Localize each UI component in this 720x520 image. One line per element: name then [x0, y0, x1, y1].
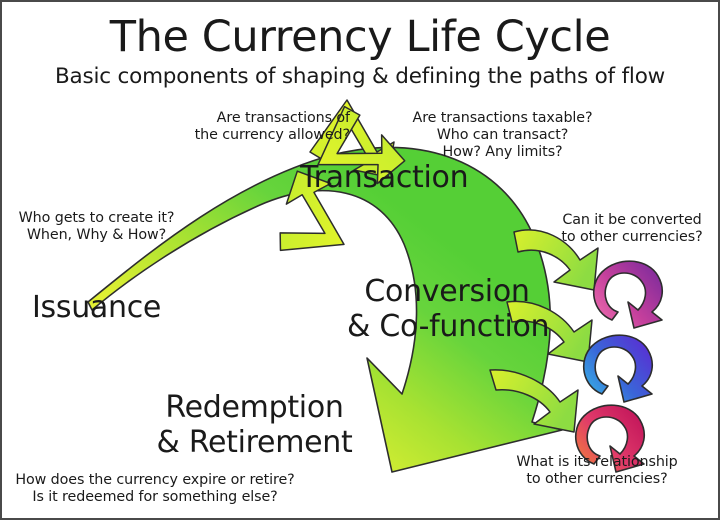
stage-label-redemption: Redemption & Retirement [147, 390, 362, 461]
annotation-relationship: What is its relationship to other curren… [497, 454, 697, 488]
currency-spiral-purple [594, 261, 663, 328]
annotation-transaction-taxable: Are transactions taxable? Who can transa… [410, 110, 595, 161]
diagram-canvas: The Currency Life Cycle Basic components… [0, 0, 720, 520]
stage-label-transaction: Transaction [300, 160, 468, 195]
stage-label-conversion: Conversion & Co-function [347, 274, 547, 345]
currency-spiral-blue [584, 335, 653, 402]
stage-label-issuance: Issuance [32, 290, 161, 325]
annotation-conversion: Can it be converted to other currencies? [552, 212, 712, 246]
page-subtitle: Basic components of shaping & defining t… [2, 64, 718, 89]
annotation-redemption: How does the currency expire or retire? … [10, 472, 300, 506]
annotation-transaction-allowed: Are transactions of the currency allowed… [180, 110, 350, 144]
annotation-issuance: Who gets to create it? When, Why & How? [14, 210, 179, 244]
page-title: The Currency Life Cycle [2, 12, 718, 63]
